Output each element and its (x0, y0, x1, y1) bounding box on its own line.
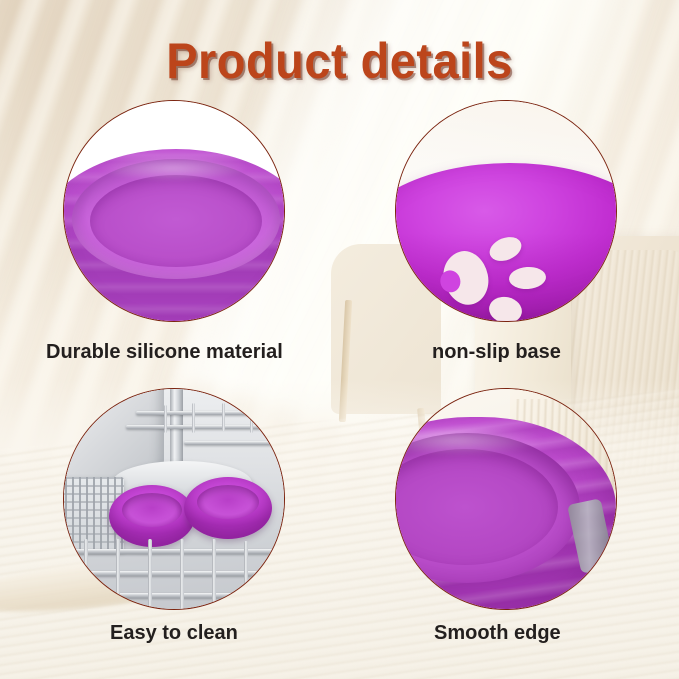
rack-wire (244, 541, 248, 603)
rack-wire (64, 549, 284, 554)
panel-smooth-edge (395, 388, 617, 610)
bowl-inner-floor (90, 175, 262, 267)
panel-easy-to-clean (63, 388, 285, 610)
rack-wire (84, 539, 88, 605)
panel-durable-silicone-material (63, 100, 285, 322)
rack-wire (192, 403, 195, 433)
rack-wire (68, 593, 282, 598)
bowl-rim-highlight (98, 155, 248, 181)
rack-wire (180, 539, 184, 609)
rack-wire (212, 539, 216, 607)
product-details-infographic: Product details (0, 0, 679, 679)
product-bowl-left-inner (122, 493, 182, 527)
photo-bowl-rim-closeup (396, 389, 616, 609)
page-title: Product details (20, 32, 658, 90)
rack-wire (136, 411, 276, 415)
rack-wire (116, 539, 120, 607)
rack-wire (222, 403, 225, 431)
product-bowl-right-inner (197, 485, 259, 519)
rack-wire (148, 539, 152, 609)
rack-wire (184, 441, 284, 445)
caption-non-slip-base: non-slip base (432, 339, 561, 365)
caption-smooth-edge: Smooth edge (434, 620, 561, 646)
rack-wire (250, 407, 253, 433)
rack-wire (126, 425, 284, 429)
photo-dishwasher-rack (64, 389, 284, 609)
rack-wire (164, 405, 167, 433)
rack-wire (64, 571, 284, 576)
photo-paw-print-base (396, 101, 616, 321)
caption-easy-to-clean: Easy to clean (110, 620, 238, 646)
photo-collapsible-bowl (64, 101, 284, 321)
caption-durable-silicone-material: Durable silicone material (46, 339, 283, 365)
panel-non-slip-base (395, 100, 617, 322)
